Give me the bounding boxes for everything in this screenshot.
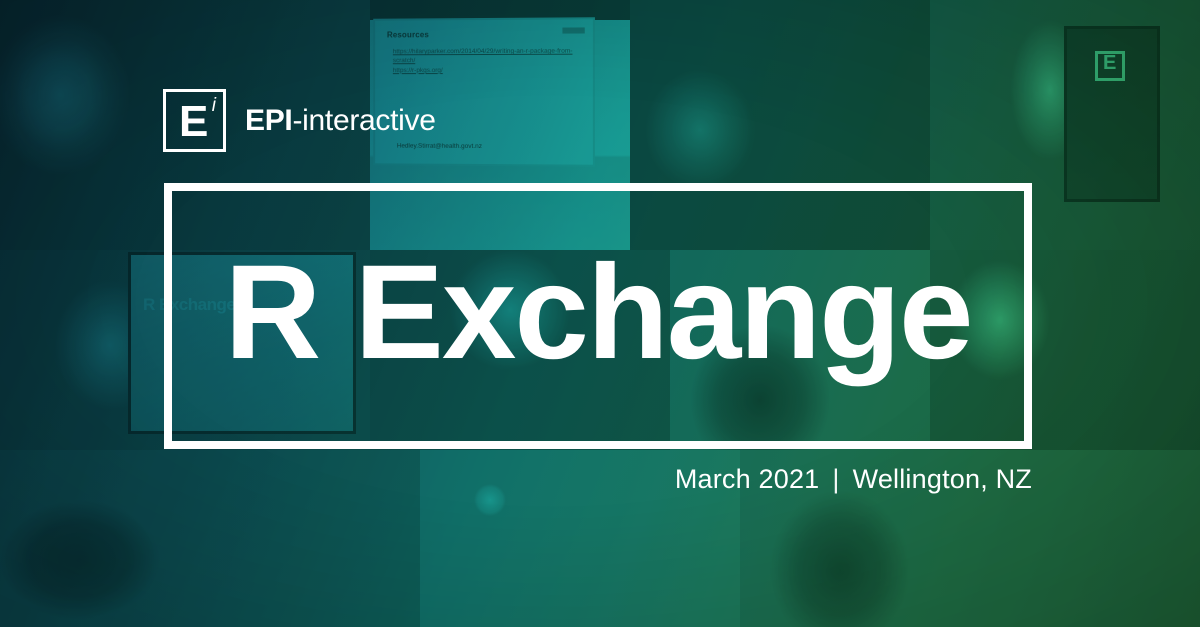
event-date: March 2021 bbox=[675, 466, 820, 493]
epi-logo-mark-icon: E i bbox=[163, 89, 226, 152]
event-meta: March 2021 | Wellington, NZ bbox=[675, 466, 1032, 493]
brand-name-bold: EPI bbox=[245, 104, 292, 137]
brand-wordmark: EPI-interactive bbox=[245, 106, 436, 136]
brand-name-rest: -interactive bbox=[292, 104, 435, 137]
meta-separator: | bbox=[832, 466, 839, 493]
epi-interactive-logo[interactable]: E i EPI-interactive bbox=[163, 89, 436, 152]
logo-letter-e: E bbox=[179, 100, 207, 144]
logo-superscript-i: i bbox=[212, 96, 216, 115]
event-banner: Resources https://hilaryparker.com/2014/… bbox=[0, 0, 1200, 627]
page-title: R Exchange bbox=[224, 246, 971, 380]
event-location: Wellington, NZ bbox=[853, 466, 1032, 493]
title-frame: R Exchange bbox=[164, 183, 1032, 449]
